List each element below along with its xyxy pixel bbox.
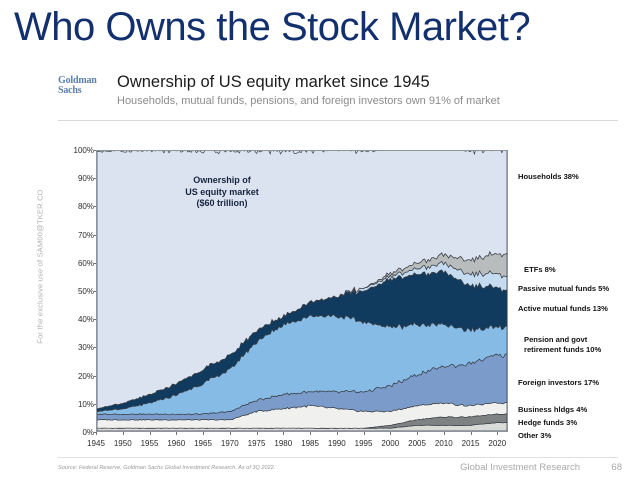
x-axis-tick-mark xyxy=(96,432,97,435)
brand-line-2: Sachs xyxy=(58,86,97,96)
x-axis-tick-label: 1980 xyxy=(274,439,292,448)
series-label-passive-mutual-funds: Passive mutual funds 5% xyxy=(518,284,609,294)
y-axis-tick-label: 60% xyxy=(78,259,94,268)
x-axis-tick-mark xyxy=(283,432,284,435)
y-axis-tick-label: 70% xyxy=(78,231,94,240)
x-axis-tick-label: 1950 xyxy=(114,439,132,448)
series-label-pension-and-govt-retirement-funds: Pension and govtretirement funds 10% xyxy=(524,335,601,354)
series-label-line: Pension and govt xyxy=(524,335,601,345)
x-axis-tick-label: 1955 xyxy=(141,439,159,448)
x-axis-tick-mark xyxy=(444,432,445,435)
x-axis-tick-mark xyxy=(203,432,204,435)
page-title: Who Owns the Stock Market? xyxy=(14,3,530,51)
y-axis-tick-label: 10% xyxy=(78,400,94,409)
header-divider xyxy=(58,120,618,121)
x-axis-tick-mark xyxy=(471,432,472,435)
x-axis-tick-label: 1960 xyxy=(167,439,185,448)
annotation-line-2: US equity market xyxy=(152,187,292,199)
x-axis-tick-label: 2005 xyxy=(408,439,426,448)
x-axis-tick-mark xyxy=(230,432,231,435)
x-axis-tick-label: 1965 xyxy=(194,439,212,448)
x-axis-tick-label: 2010 xyxy=(435,439,453,448)
x-axis-tick-label: 1985 xyxy=(301,439,319,448)
x-axis-tick-mark xyxy=(497,432,498,435)
page-number: 68 xyxy=(611,462,622,473)
x-axis-tick-label: 2020 xyxy=(488,439,506,448)
x-axis-tick-mark xyxy=(364,432,365,435)
series-label-foreign-investors: Foreign investors 17% xyxy=(518,378,599,388)
source-note: Source: Federal Reserve, Goldman Sachs G… xyxy=(58,465,275,471)
y-axis-tick-label: 30% xyxy=(78,343,94,352)
y-axis: 0%10%20%30%40%50%60%70%80%90%100% xyxy=(58,142,94,440)
annotation-line-3: ($60 trillion) xyxy=(152,198,292,210)
x-axis-tick-mark xyxy=(150,432,151,435)
x-axis-tick-label: 1970 xyxy=(221,439,239,448)
slide-card: Goldman Sachs Ownership of US equity mar… xyxy=(0,62,640,487)
watermark-text: For the exclusive use of SAM00@TKER.CO xyxy=(36,187,45,347)
goldman-sachs-logo: Goldman Sachs xyxy=(58,76,97,96)
series-label-business-hldgs: Business hldgs 4% xyxy=(518,405,587,415)
x-axis-tick-mark xyxy=(390,432,391,435)
x-axis-tick-label: 1995 xyxy=(355,439,373,448)
x-axis-tick-label: 1990 xyxy=(328,439,346,448)
x-axis-tick-mark xyxy=(123,432,124,435)
annotation-line-1: Ownership of xyxy=(152,175,292,187)
y-axis-tick-label: 40% xyxy=(78,315,94,324)
x-axis-tick-label: 2000 xyxy=(381,439,399,448)
x-axis-tick-mark xyxy=(310,432,311,435)
series-label-households: Households 38% xyxy=(518,172,579,182)
x-axis-tick-mark xyxy=(257,432,258,435)
chart-inner-annotation: Ownership of US equity market ($60 trill… xyxy=(152,175,292,210)
x-axis-tick-label: 2015 xyxy=(462,439,480,448)
y-axis-tick-label: 0% xyxy=(82,428,94,437)
series-label-other: Other 3% xyxy=(518,431,551,441)
slide-title: Ownership of US equity market since 1945 xyxy=(117,73,430,92)
series-label-hedge-funds: Hedge funds 3% xyxy=(518,418,577,428)
y-axis-tick-label: 90% xyxy=(78,174,94,183)
y-axis-tick-label: 20% xyxy=(78,372,94,381)
division-label: Global Investment Research xyxy=(460,462,580,473)
y-axis-tick-label: 100% xyxy=(74,146,94,155)
series-label-active-mutual-funds: Active mutual funds 13% xyxy=(518,304,608,314)
series-label-line: retirement funds 10% xyxy=(524,345,601,355)
x-axis-tick-mark xyxy=(417,432,418,435)
series-label-etfs: ETFs 8% xyxy=(524,265,556,275)
slide-subtitle: Households, mutual funds, pensions, and … xyxy=(117,95,500,107)
x-axis-tick-mark xyxy=(176,432,177,435)
x-axis-tick-mark xyxy=(337,432,338,435)
x-axis-tick-label: 1975 xyxy=(248,439,266,448)
x-axis: 1945195019551960196519701975198019851990… xyxy=(96,436,508,450)
x-axis-tick-label: 1945 xyxy=(87,439,105,448)
y-axis-tick-label: 80% xyxy=(78,202,94,211)
y-axis-tick-label: 50% xyxy=(78,287,94,296)
footer-divider xyxy=(58,457,618,458)
